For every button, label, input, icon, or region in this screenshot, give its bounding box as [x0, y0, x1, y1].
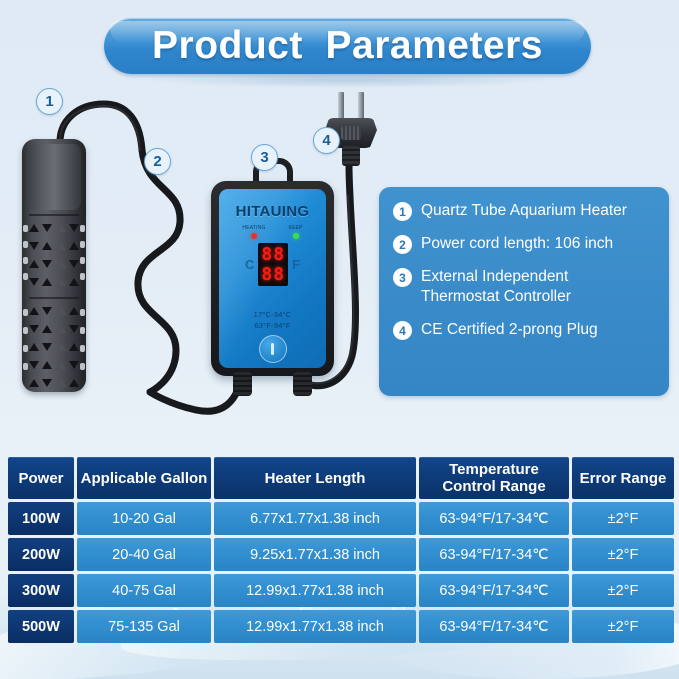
cell-gallon: 10-20 Gal	[77, 502, 211, 535]
legend-item: 4 CE Certified 2-prong Plug	[393, 320, 657, 340]
cord-strain-relief-right	[293, 372, 312, 396]
keep-label: KEEP	[288, 225, 302, 231]
cell-temperature: 63-94°F/17-34℃	[419, 574, 569, 607]
set-button[interactable]	[259, 335, 287, 363]
legend-line-2: Thermostat Controller	[421, 287, 571, 307]
specification-table: Power Applicable Gallon Heater Length Te…	[8, 457, 671, 646]
column-header-gallon: Applicable Gallon	[77, 457, 211, 499]
thermostat-controller: HITAUING HEATING KEEP C 88 88	[211, 181, 334, 376]
cell-gallon: 75-135 Gal	[77, 610, 211, 643]
legend-badge-4: 4	[393, 321, 412, 340]
legend-text-1: Quartz Tube Aquarium Heater	[421, 201, 627, 221]
range-celsius: 17°C-34°C	[219, 309, 326, 320]
cell-temperature: 63-94°F/17-34℃	[419, 538, 569, 571]
cell-length: 9.25x1.77x1.38 inch	[214, 538, 416, 571]
heater-cap	[27, 144, 81, 210]
display-value-top: 88	[261, 246, 285, 263]
legend-item: 3 External Independent Thermostat Contro…	[393, 267, 657, 307]
indicator-lights: HEATING KEEP	[231, 225, 314, 239]
heater-vent-guard	[27, 302, 81, 388]
table-row: 500W 75-135 Gal 12.99x1.77x1.38 inch 63-…	[8, 610, 671, 643]
heater-vent-guard	[27, 219, 81, 291]
plug-emblem	[341, 126, 361, 140]
cell-length: 12.99x1.77x1.38 inch	[214, 610, 416, 643]
display-value-bottom: 88	[261, 266, 285, 283]
legend-badge-2: 2	[393, 235, 412, 254]
cell-error: ±2°F	[572, 538, 674, 571]
controller-faceplate: HITAUING HEATING KEEP C 88 88	[219, 189, 326, 368]
callout-badge-2: 2	[144, 148, 171, 175]
celsius-label: C	[245, 257, 254, 272]
cord-strain-relief-left	[233, 372, 252, 396]
keep-indicator: KEEP	[288, 225, 302, 239]
temperature-display-area: C 88 88 F	[219, 243, 326, 286]
keep-led-icon	[293, 233, 299, 239]
legend-item: 2 Power cord length: 106 inch	[393, 234, 657, 254]
legend-line-1: Quartz Tube Aquarium Heater	[421, 202, 627, 219]
cell-gallon: 20-40 Gal	[77, 538, 211, 571]
plug-strain-relief	[342, 146, 360, 166]
infographic-canvas: Product Parameters	[0, 0, 679, 679]
table-row: 300W 40-75 Gal 12.99x1.77x1.38 inch 63-9…	[8, 574, 671, 607]
cell-error: ±2°F	[572, 610, 674, 643]
cell-gallon: 40-75 Gal	[77, 574, 211, 607]
cell-power: 200W	[8, 538, 74, 571]
legend-line-1: External Independent	[421, 267, 571, 287]
callout-badge-4: 4	[313, 127, 340, 154]
heating-indicator: HEATING	[242, 225, 265, 239]
banner-pill: Product Parameters	[104, 18, 591, 74]
range-fahrenheit: 63°F-94°F	[219, 320, 326, 331]
table-row: 200W 20-40 Gal 9.25x1.77x1.38 inch 63-94…	[8, 538, 671, 571]
legend-text-2: Power cord length: 106 inch	[421, 234, 613, 254]
legend-badge-3: 3	[393, 268, 412, 287]
seven-segment-display: 88 88	[258, 243, 288, 286]
brand-logo: HITAUING	[219, 203, 326, 220]
heater-seam	[29, 214, 79, 216]
header-temp-line1: Temperature	[442, 461, 545, 478]
table-header-row: Power Applicable Gallon Heater Length Te…	[8, 457, 671, 499]
legend-badge-1: 1	[393, 202, 412, 221]
cell-length: 6.77x1.77x1.38 inch	[214, 502, 416, 535]
heater-side-slots-left	[23, 139, 30, 392]
column-header-length: Heater Length	[214, 457, 416, 499]
cell-error: ±2°F	[572, 502, 674, 535]
plug-prong-left	[338, 92, 344, 122]
header-temp-line2: Control Range	[442, 478, 545, 495]
heater-side-slots-right	[78, 139, 85, 392]
banner-drop-shadow	[140, 72, 555, 88]
cell-length: 12.99x1.77x1.38 inch	[214, 574, 416, 607]
cell-temperature: 63-94°F/17-34℃	[419, 502, 569, 535]
cell-power: 500W	[8, 610, 74, 643]
legend-item: 1 Quartz Tube Aquarium Heater	[393, 201, 657, 221]
thermometer-icon	[271, 343, 274, 355]
heating-label: HEATING	[242, 225, 265, 231]
legend-line-1: Power cord length: 106 inch	[421, 235, 613, 252]
legend-line-1: CE Certified 2-prong Plug	[421, 321, 598, 338]
heating-led-icon	[251, 233, 257, 239]
feature-legend-panel: 1 Quartz Tube Aquarium Heater 2 Power co…	[379, 187, 669, 396]
cell-power: 300W	[8, 574, 74, 607]
callout-badge-3: 3	[251, 144, 278, 171]
column-header-temperature: Temperature Control Range	[419, 457, 569, 499]
page-title: Product Parameters	[104, 18, 591, 74]
callout-badge-1: 1	[36, 88, 63, 115]
plug-prong-right	[358, 92, 364, 122]
cell-temperature: 63-94°F/17-34℃	[419, 610, 569, 643]
column-header-error: Error Range	[572, 457, 674, 499]
cell-power: 100W	[8, 502, 74, 535]
controller-shell: HITAUING HEATING KEEP C 88 88	[211, 181, 334, 376]
title-banner: Product Parameters	[104, 18, 591, 74]
table-row: 100W 10-20 Gal 6.77x1.77x1.38 inch 63-94…	[8, 502, 671, 535]
cell-error: ±2°F	[572, 574, 674, 607]
heater-seam	[29, 297, 79, 299]
legend-text-4: CE Certified 2-prong Plug	[421, 320, 598, 340]
fahrenheit-label: F	[292, 257, 300, 272]
legend-text-3: External Independent Thermostat Controll…	[421, 267, 571, 307]
column-header-power: Power	[8, 457, 74, 499]
aquarium-heater-tube	[22, 139, 86, 392]
control-range-text: 17°C-34°C 63°F-94°F	[219, 309, 326, 331]
